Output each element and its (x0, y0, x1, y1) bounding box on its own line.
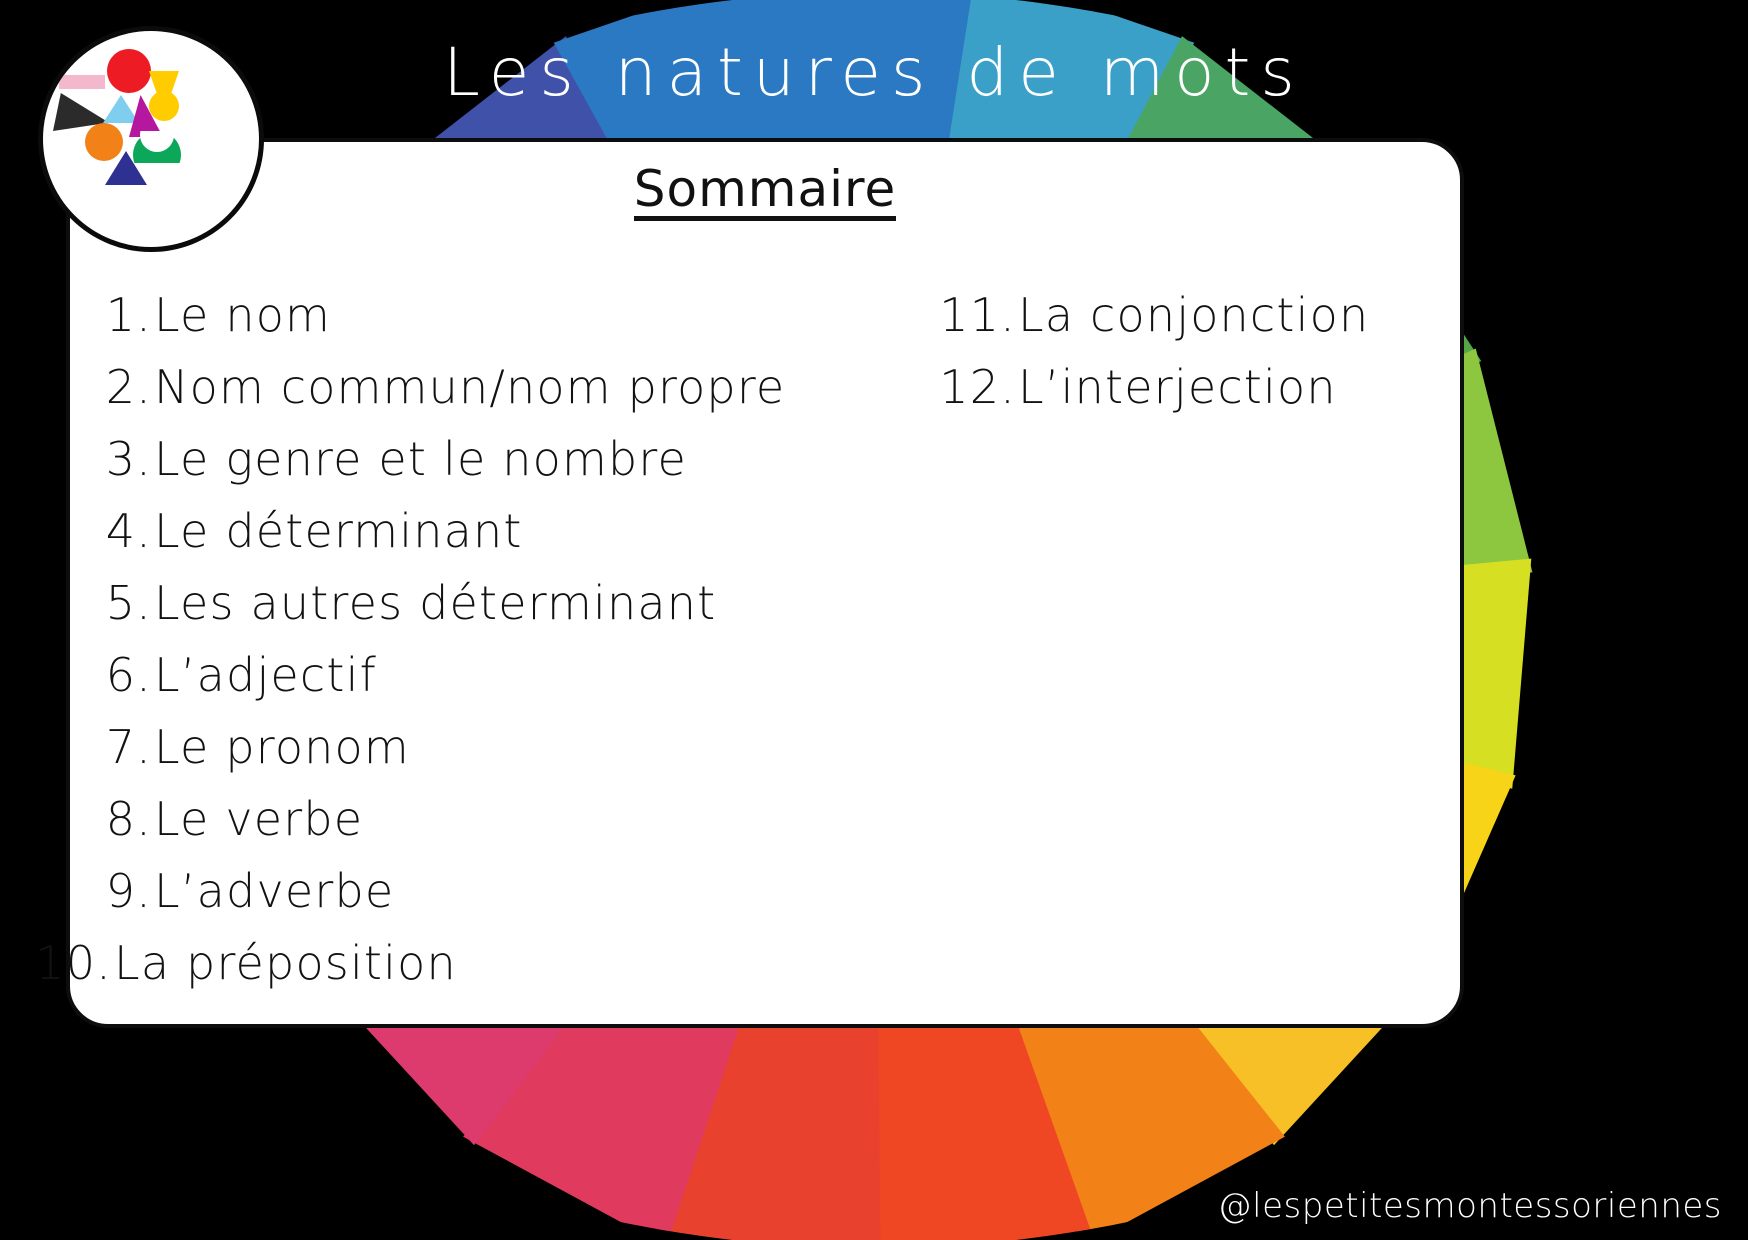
content-card: Sommaire 1.Le nom2.Nom commun∕nom propre… (66, 138, 1464, 1028)
summary-list-item[interactable]: 9.L’adverbe (70, 868, 870, 940)
summary-item-label: Le déterminant (154, 508, 523, 554)
summary-item-number: 3. (70, 436, 152, 482)
montessori-grammar-symbols-logo (38, 26, 264, 252)
summary-item-number: 5. (70, 580, 152, 626)
summary-item-number: 12. (906, 364, 1016, 410)
slide-canvas: Les natures de mots Sommaire 1.Le nom2.N… (0, 0, 1748, 1240)
orange-circle-verb-symbol (85, 123, 123, 161)
summary-list-item[interactable]: 12.L’interjection (906, 364, 1466, 436)
page-title: Les natures de mots (0, 34, 1748, 111)
lightblue-triangle-adjective-symbol (103, 95, 139, 123)
summary-column-left: 1.Le nom2.Nom commun∕nom propre3.Le genr… (70, 292, 870, 1012)
summary-list-item[interactable]: 8.Le verbe (70, 796, 870, 868)
summary-list-item[interactable]: 7.Le pronom (70, 724, 870, 796)
summary-column-right: 11.La conjonction12.L’interjection (906, 292, 1466, 436)
yellow-pronoun-symbol (149, 91, 179, 121)
summary-list-item[interactable]: 10.La préposition (30, 940, 870, 1012)
watermark-handle: @lespetitesmontessoriennes (1218, 1186, 1722, 1226)
summary-list-item[interactable]: 1.Le nom (70, 292, 870, 364)
summary-item-number: 7. (70, 724, 152, 770)
summary-list-item[interactable]: 6.L’adjectif (70, 652, 870, 724)
summary-item-number: 10. (30, 940, 112, 986)
summary-item-label: Le pronom (154, 724, 410, 770)
summary-item-label: L’interjection (1018, 364, 1337, 410)
summary-item-label: L’adverbe (154, 868, 394, 914)
summary-list-item[interactable]: 4.Le déterminant (70, 508, 870, 580)
card-heading-text: Sommaire (634, 164, 897, 221)
summary-item-number: 4. (70, 508, 152, 554)
summary-columns: 1.Le nom2.Nom commun∕nom propre3.Le genr… (70, 292, 1460, 1012)
summary-list-item[interactable]: 2.Nom commun∕nom propre (70, 364, 870, 436)
summary-list-item[interactable]: 3.Le genre et le nombre (70, 436, 870, 508)
summary-item-label: Le nom (154, 292, 331, 338)
summary-item-label: La conjonction (1018, 292, 1369, 338)
summary-item-label: Nom commun∕nom propre (154, 364, 785, 410)
summary-item-number: 6. (70, 652, 152, 698)
summary-item-number: 1. (70, 292, 152, 338)
card-heading: Sommaire (70, 160, 1460, 221)
summary-item-label: Le genre et le nombre (154, 436, 687, 482)
summary-list-item[interactable]: 11.La conjonction (906, 292, 1466, 364)
red-circle-noun-symbol (107, 49, 151, 93)
summary-item-number: 8. (70, 796, 152, 842)
summary-item-number: 2. (70, 364, 152, 410)
summary-item-label: Le verbe (154, 796, 363, 842)
summary-item-label: La préposition (114, 940, 457, 986)
pink-bar-article-symbol (59, 75, 105, 89)
summary-item-number: 9. (70, 868, 152, 914)
summary-item-label: Les autres déterminant (154, 580, 716, 626)
green-crescent-preposition-symbol (133, 131, 181, 163)
summary-list-item[interactable]: 5.Les autres déterminant (70, 580, 870, 652)
summary-item-label: L’adjectif (154, 652, 377, 698)
summary-item-number: 11. (906, 292, 1016, 338)
